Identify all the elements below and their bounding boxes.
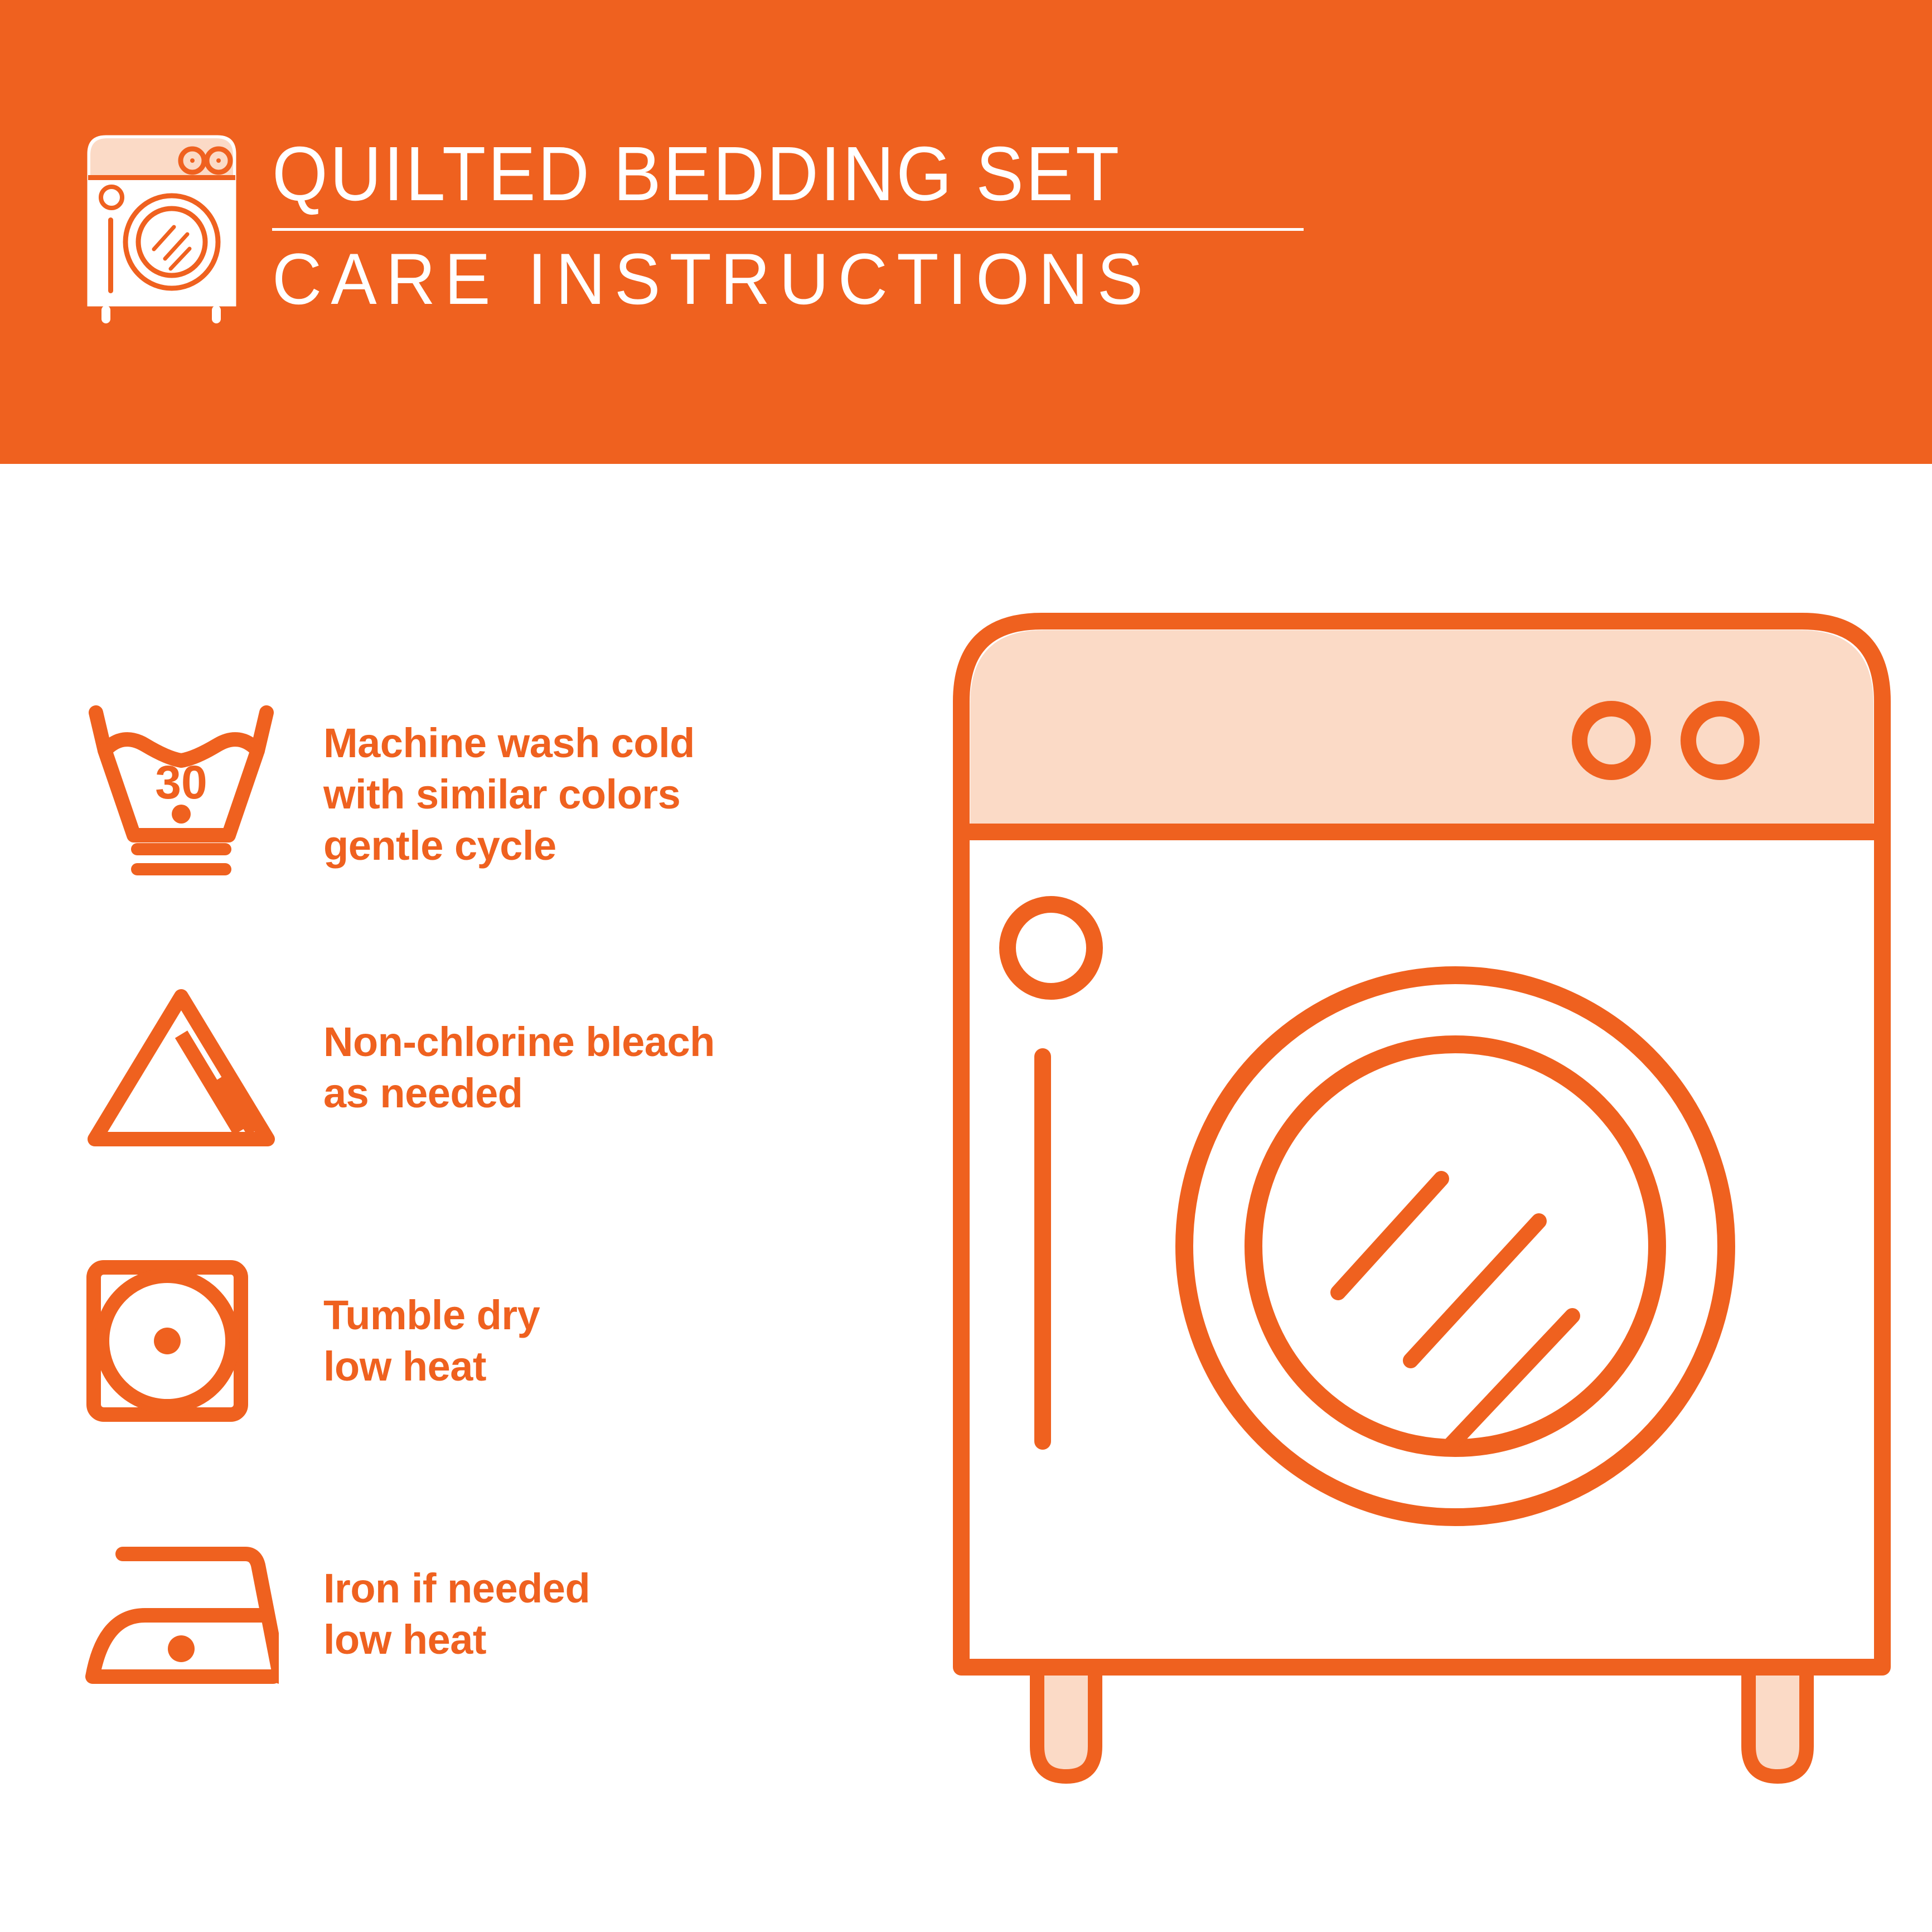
list-item: Tumble dry low heat	[84, 1204, 920, 1478]
list-item: 30 Machine wash cold with similar colors…	[84, 658, 920, 931]
label-line: as needed	[323, 1068, 715, 1119]
header-content: QUILTED BEDDING SET CARE INSTRUCTIONS	[78, 129, 1304, 325]
label-line: low heat	[323, 1614, 590, 1665]
tumble-dry-low-icon	[84, 1257, 296, 1425]
header-titles: QUILTED BEDDING SET CARE INSTRUCTIONS	[272, 129, 1304, 316]
wash-temperature-value: 30	[155, 756, 207, 808]
title-divider	[272, 228, 1304, 231]
iron-low-heat-icon	[84, 1531, 296, 1698]
list-item-label: Machine wash cold with similar colors ge…	[323, 718, 695, 871]
front-load-washing-machine-illustration	[948, 608, 1896, 1823]
washer-leg-right	[1749, 1662, 1807, 1776]
washer-knob-right	[1688, 709, 1752, 772]
list-item-label: Non-chlorine bleach as needed	[323, 1016, 715, 1119]
washer-leg-left	[1037, 1662, 1095, 1776]
label-line: Non-chlorine bleach	[323, 1016, 715, 1068]
washer-knob-left	[1580, 709, 1643, 772]
list-item-label: Iron if needed low heat	[323, 1563, 590, 1665]
label-line: low heat	[323, 1341, 540, 1392]
list-item-label: Tumble dry low heat	[323, 1290, 540, 1392]
list-item: Non-chlorine bleach as needed	[84, 931, 920, 1204]
non-chlorine-bleach-triangle-icon	[84, 984, 296, 1151]
list-item: Iron if needed low heat	[84, 1478, 920, 1751]
washer-handle-bar	[1034, 1048, 1051, 1450]
care-instructions-list: 30 Machine wash cold with similar colors…	[84, 658, 920, 1751]
wash-tub-30-gentle-icon: 30	[84, 703, 296, 887]
label-line: Iron if needed	[323, 1563, 590, 1614]
header-band: QUILTED BEDDING SET CARE INSTRUCTIONS	[0, 0, 1932, 464]
page-title: QUILTED BEDDING SET	[272, 135, 1232, 214]
label-line: Tumble dry	[323, 1290, 540, 1341]
label-line: gentle cycle	[323, 820, 695, 871]
label-line: with similar colors	[323, 769, 695, 820]
washing-machine-icon	[78, 129, 245, 325]
label-line: Machine wash cold	[323, 718, 695, 769]
page-subtitle: CARE INSTRUCTIONS	[272, 242, 1252, 316]
